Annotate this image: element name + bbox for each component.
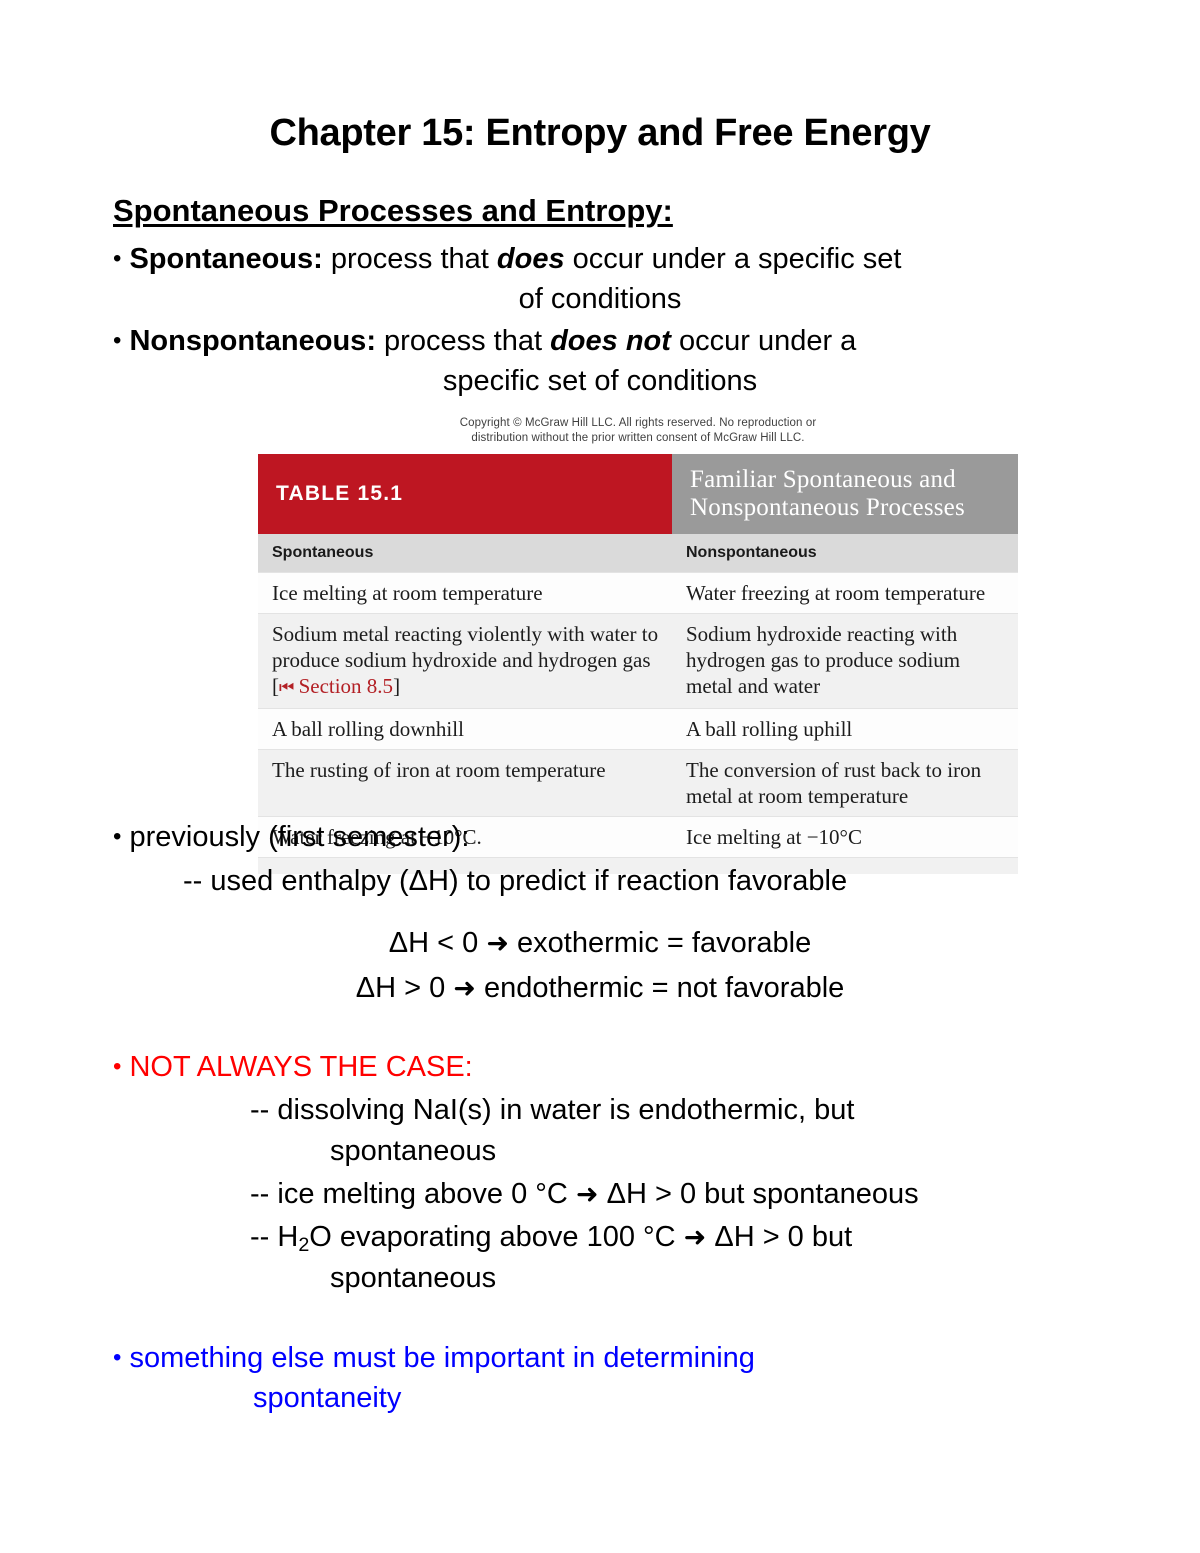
- copyright-notice: Copyright © McGraw Hill LLC. All rights …: [258, 416, 1018, 446]
- item-3-text-pre-b: O evaporating above 100 °C: [309, 1221, 683, 1253]
- table-row: The rusting of iron at room temperature …: [258, 750, 1018, 817]
- cell-nonspontaneous: The conversion of rust back to iron meta…: [672, 750, 1018, 817]
- conclusion-line-2: spontaneity: [253, 1378, 401, 1419]
- section-heading: Spontaneous Processes and Entropy:: [113, 193, 673, 229]
- cell-spontaneous: Sodium metal reacting violently with wat…: [258, 614, 672, 709]
- table-row: Sodium metal reacting violently with wat…: [258, 614, 1018, 709]
- section-reference-link[interactable]: Section 8.5: [293, 674, 393, 698]
- column-header-spontaneous: Spontaneous: [258, 534, 672, 573]
- not-always-item-1-line-1: -- dissolving NaI(s) in water is endothe…: [250, 1090, 854, 1131]
- equation-endothermic-left: ΔH > 0: [356, 972, 454, 1004]
- bullet-glyph: •: [113, 327, 121, 354]
- equation-exothermic: ΔH < 0 ➜ exothermic = favorable: [0, 923, 1200, 964]
- right-arrow-icon: ➜: [453, 973, 476, 1003]
- equation-endothermic-right: endothermic = not favorable: [476, 972, 844, 1004]
- not-always-item-2: -- ice melting above 0 °C ➜ ΔH > 0 but s…: [250, 1174, 919, 1215]
- right-arrow-icon: ➜: [684, 1222, 707, 1252]
- item-2-text-post: ΔH > 0 but spontaneous: [599, 1178, 919, 1210]
- bullet-glyph: •: [113, 823, 121, 850]
- not-always-heading: • NOT ALWAYS THE CASE:: [113, 1046, 473, 1088]
- definition-emphasis: does: [497, 243, 565, 275]
- cell-nonspontaneous: Sodium hydroxide reacting with hydrogen …: [672, 614, 1018, 709]
- table-header-row: TABLE 15.1 Familiar Spontaneous and Nons…: [258, 454, 1018, 534]
- not-always-heading-text: NOT ALWAYS THE CASE:: [129, 1051, 472, 1083]
- definition-nonspontaneous: • Nonspontaneous: process that does not …: [113, 320, 856, 362]
- conclusion-line-1: • something else must be important in de…: [113, 1337, 755, 1379]
- table-15-1-block: Copyright © McGraw Hill LLC. All rights …: [258, 416, 1018, 874]
- definition-nonspontaneous-continuation: specific set of conditions: [0, 361, 1200, 402]
- equation-endothermic: ΔH > 0 ➜ endothermic = not favorable: [0, 968, 1200, 1009]
- term-nonspontaneous: Nonspontaneous: [129, 325, 366, 357]
- right-arrow-icon: ➜: [576, 1179, 599, 1209]
- definition-spontaneous-continuation: of conditions: [0, 279, 1200, 320]
- definition-text-after: occur under a: [671, 325, 856, 357]
- term-spontaneous: Spontaneous: [129, 243, 313, 275]
- equation-exothermic-left: ΔH < 0: [389, 927, 487, 959]
- right-arrow-icon: ➜: [486, 928, 509, 958]
- item-3-subscript: 2: [298, 1234, 309, 1256]
- table-row: Ice melting at room temperature Water fr…: [258, 573, 1018, 614]
- cell-spontaneous: Ice melting at room temperature: [258, 573, 672, 614]
- conclusion-text-1: something else must be important in dete…: [129, 1342, 754, 1374]
- table-column-header-row: Spontaneous Nonspontaneous: [258, 534, 1018, 573]
- not-always-item-1-line-2: spontaneous: [330, 1131, 496, 1172]
- note-previously: • previously (first semester):: [113, 816, 469, 858]
- table-caption: Familiar Spontaneous and Nonspontaneous …: [672, 454, 1018, 534]
- skip-back-icon: ⏮: [279, 678, 293, 697]
- page-title: Chapter 15: Entropy and Free Energy: [0, 112, 1200, 155]
- term-colon: :: [366, 325, 376, 357]
- bullet-glyph: •: [113, 1344, 121, 1371]
- definition-emphasis: does not: [550, 325, 671, 357]
- note-used-enthalpy: -- used enthalpy (ΔH) to predict if reac…: [183, 861, 847, 902]
- definition-text-after: occur under a specific set: [565, 243, 902, 275]
- not-always-item-3-line-2: spontaneous: [330, 1258, 496, 1299]
- equation-exothermic-right: exothermic = favorable: [509, 927, 811, 959]
- definition-text-before: process that: [323, 243, 497, 275]
- cell-spontaneous: A ball rolling downhill: [258, 709, 672, 750]
- definition-spontaneous: • Spontaneous: process that does occur u…: [113, 238, 901, 280]
- cell-text-post: ]: [393, 674, 400, 698]
- item-2-text-pre: -- ice melting above 0 °C: [250, 1178, 576, 1210]
- cell-nonspontaneous: Water freezing at room temperature: [672, 573, 1018, 614]
- table-number-badge: TABLE 15.1: [258, 454, 672, 534]
- note-previously-text: previously (first semester):: [129, 821, 469, 853]
- item-3-text-post: ΔH > 0 but: [706, 1221, 852, 1253]
- term-colon: :: [313, 243, 323, 275]
- table-15-1: TABLE 15.1 Familiar Spontaneous and Nons…: [258, 454, 1018, 874]
- cell-nonspontaneous: A ball rolling uphill: [672, 709, 1018, 750]
- column-header-nonspontaneous: Nonspontaneous: [672, 534, 1018, 573]
- definition-text-before: process that: [376, 325, 550, 357]
- copyright-line-1: Copyright © McGraw Hill LLC. All rights …: [258, 416, 1018, 431]
- cell-spontaneous: The rusting of iron at room temperature: [258, 750, 672, 817]
- copyright-line-2: distribution without the prior written c…: [258, 431, 1018, 446]
- item-3-text-pre-a: -- H: [250, 1221, 298, 1253]
- cell-nonspontaneous: Ice melting at −10°C: [672, 817, 1018, 858]
- table-row: A ball rolling downhill A ball rolling u…: [258, 709, 1018, 750]
- bullet-glyph: •: [113, 1053, 121, 1080]
- bullet-glyph: •: [113, 245, 121, 272]
- document-page: Chapter 15: Entropy and Free Energy Spon…: [0, 0, 1200, 1553]
